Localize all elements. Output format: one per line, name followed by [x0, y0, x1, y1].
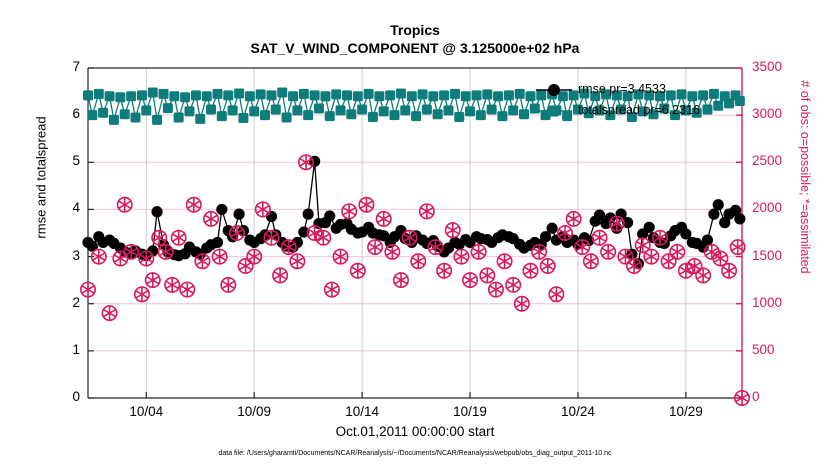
legend-label-rmse: rmse pr=3.4533: [578, 82, 666, 96]
figure-canvas: Tropics SAT_V_WIND_COMPONENT @ 3.125000e…: [0, 0, 830, 470]
legend-marker-rmse: [548, 84, 560, 96]
legend-markers: [0, 0, 830, 470]
legend-label-totalspread: totalspread pr=6.2316: [578, 103, 700, 117]
legend-marker-totalspread: [548, 106, 559, 117]
